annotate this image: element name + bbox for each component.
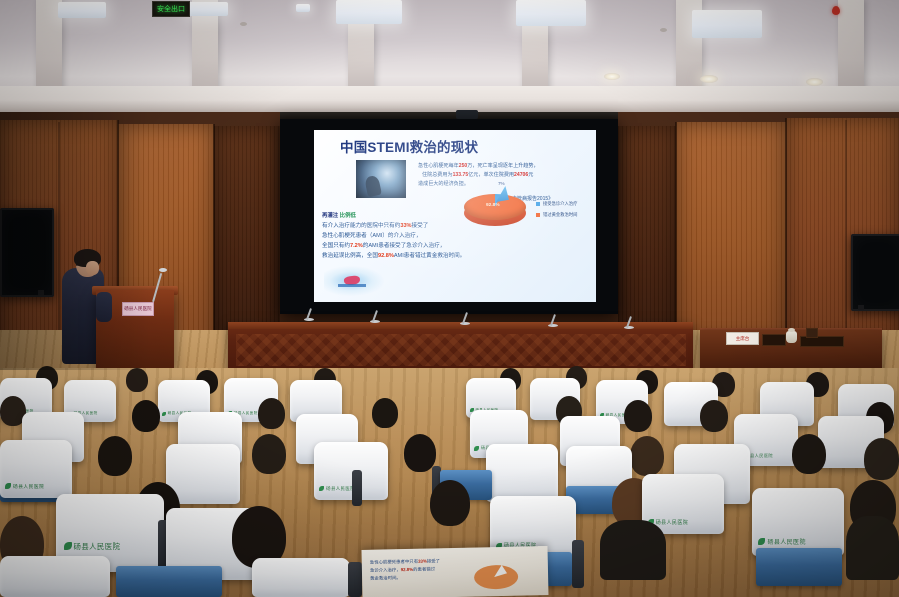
audience-head	[404, 434, 436, 472]
conference-hall-photo: 安全出口 中国STEMI救治的现状 急性心肌梗死每年250万，死亡率呈现逐年上升…	[0, 0, 899, 597]
slide-pie-chart: 7% 92.8%	[464, 186, 526, 234]
legend-item-0: 接受急诊介入治疗	[536, 198, 577, 209]
slide-illustration-image	[356, 160, 406, 198]
speaker-face	[86, 261, 99, 275]
podium-sign-label: 砀县人民医院	[124, 306, 152, 312]
audience-head	[700, 400, 728, 432]
head-table-panel-carving	[236, 334, 686, 366]
slide-paragraph-line-3: 造成巨大的经济负担。	[418, 180, 469, 188]
slide-bullet-1: 有介入治疗能力的医院中只有约33%接受了	[322, 222, 428, 232]
slide-footer-logo	[324, 266, 384, 296]
chair-logo: 砀县人民医院	[5, 483, 44, 490]
audience-head	[98, 436, 132, 476]
leaf-icon	[5, 483, 11, 489]
audience-head	[258, 398, 285, 429]
ceiling-light-panel	[296, 4, 310, 12]
slide-sub-heading: 再灌注 比例低	[322, 211, 356, 219]
audience-shoulder	[600, 520, 666, 580]
exit-sign: 安全出口	[152, 1, 190, 17]
slide-title: 中国STEMI救治的现状	[340, 136, 478, 156]
downlight	[806, 78, 823, 86]
audience-head	[252, 434, 286, 474]
ceiling-light-panel	[58, 2, 106, 18]
name-placard-label: 主席台	[736, 336, 750, 342]
slide-bullet-3: 全国只有约7.2%的AMI患者接受了急诊介入治疗，	[322, 242, 445, 252]
audience-head	[132, 400, 160, 432]
chair-logo-label: 砀县人民医院	[767, 537, 805, 546]
chair-logo-label: 砀县人民医院	[74, 541, 121, 552]
audience-head	[430, 480, 470, 526]
printed-handout: 急性心肌梗死患者中只有33%接受了 急诊介入治疗，92.8%的患者错过 黄金救治…	[362, 546, 549, 597]
leaf-icon	[319, 486, 324, 491]
handout-line-1: 急性心肌梗死患者中只有33%接受了	[370, 558, 440, 565]
exit-sign-label: 安全出口	[157, 4, 185, 14]
audience-chair[interactable]: 砀县人民医院	[752, 488, 844, 556]
audience-head	[624, 400, 652, 432]
desk-item-folder	[762, 334, 786, 346]
audience-chair[interactable]: 砀县人民医院	[314, 442, 388, 500]
teacup	[786, 331, 797, 343]
leaf-icon	[474, 446, 479, 451]
slide-bullet-4: 救治延误比例高，全国92.8%AMI患者错过黄金救治时间。	[322, 252, 465, 262]
audience-shoulder	[846, 516, 899, 580]
pie-chart-legend: 接受急诊介入治疗 错过黄金救治时间	[536, 198, 577, 220]
audience-chair[interactable]: 砀县人民医院	[0, 440, 72, 498]
ceiling-light-panel	[692, 10, 762, 38]
ceiling-light-panel	[516, 0, 586, 26]
leaf-icon	[64, 542, 72, 550]
ceiling-light-panel	[336, 0, 402, 24]
handout-line-3: 黄金救治时间。	[370, 575, 401, 582]
downlight	[604, 73, 620, 80]
pie-label-small-slice: 7%	[498, 181, 505, 186]
slide-paragraph-line-2: 住院总费用为133.75亿元，单次住院费用24706元	[422, 171, 533, 179]
audience-head	[630, 436, 664, 476]
leaf-icon	[758, 538, 765, 545]
audience-chair[interactable]	[252, 558, 350, 597]
projector-housing	[456, 110, 478, 119]
speaker-arm	[96, 292, 112, 322]
downlight	[700, 75, 718, 83]
presentation-slide: 中国STEMI救治的现状 急性心肌梗死每年250万，死亡率呈现逐年上升趋势， 住…	[314, 130, 596, 302]
audience-chair[interactable]	[0, 556, 110, 597]
legend-item-1: 错过黄金救治时间	[536, 209, 577, 220]
audience-head	[126, 368, 148, 392]
chair-logo-label: 砀县人民医院	[326, 486, 355, 492]
audience-head	[792, 434, 826, 474]
chair-logo: 砀县人民医院	[758, 537, 805, 546]
audience-chair[interactable]	[486, 444, 558, 502]
audience-head	[372, 398, 398, 428]
fire-alarm-icon	[832, 6, 840, 15]
handout-line-2: 急诊介入治疗，92.8%的患者错过	[370, 566, 435, 573]
desk-item-box	[806, 328, 818, 338]
handout-pie-chart	[474, 565, 518, 590]
chair-logo-label: 砀县人民医院	[13, 483, 44, 490]
name-placard: 主席台	[726, 332, 759, 345]
chair-logo: 砀县人民医院	[64, 541, 121, 552]
slide-bullet-2: 急性心肌梗死患者（AMI）的介入治疗，	[322, 232, 421, 242]
slide-paragraph-line-1: 急性心肌梗死每年250万，死亡率呈现逐年上升趋势，	[418, 162, 539, 170]
chair-logo-label: 砀县人民医院	[656, 519, 688, 526]
chair-logo: 砀县人民医院	[319, 486, 355, 492]
audience-head	[864, 438, 899, 480]
wall-monitor-left	[0, 208, 54, 297]
wall-monitor-right	[851, 234, 899, 311]
pie-label-large-slice: 92.8%	[486, 203, 500, 208]
podium-microphone-head	[159, 268, 167, 272]
ceiling-light-panel	[186, 2, 228, 16]
leaf-icon	[162, 412, 166, 416]
podium-sign: 砀县人民医院	[122, 302, 154, 316]
